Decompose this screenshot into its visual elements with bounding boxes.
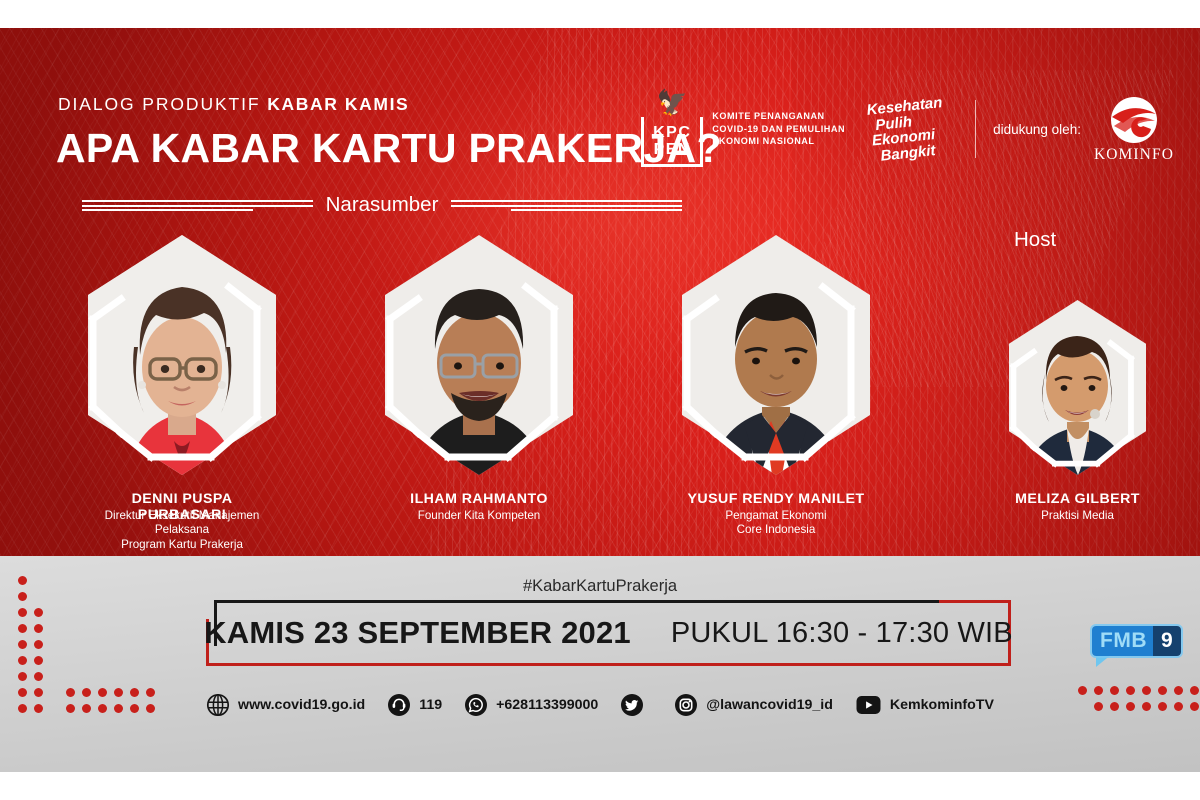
supported-by-label: didukung oleh: (993, 122, 1081, 137)
campaign-tagline: Kesehatan Pulih Ekonomi Bangkit (866, 93, 964, 164)
page-title: APA KABAR KARTU PRAKERJA? (56, 125, 722, 172)
contact-website[interactable]: www.covid19.go.id (206, 693, 365, 717)
kpc-line-2: PEN (654, 141, 691, 158)
speaker-photo-0 (88, 235, 276, 475)
instagram-text: @lawancovid19_id (706, 697, 833, 713)
instagram-icon (674, 693, 698, 717)
logo-divider (975, 100, 976, 158)
decorative-dot (18, 672, 27, 681)
youtube-text: KemkominfoTV (890, 697, 994, 713)
decorative-dot (34, 624, 43, 633)
fmb9-nine-text: 9 (1153, 626, 1181, 656)
kpcpen-mark: 🦅 KPC PEN (641, 89, 703, 169)
kpcpen-subtitle: KOMITE PENANGANAN COVID-19 DAN PEMULIHAN… (712, 110, 845, 147)
decorative-dot (18, 640, 27, 649)
speaker-card-1: ILHAM RAHMANTO Founder Kita Kompeten (385, 235, 573, 475)
portrait-illustration-1 (385, 235, 573, 475)
schedule-content: KAMIS 23 SEPTEMBER 2021 PUKUL 16:30 - 17… (206, 600, 1011, 666)
speaker-hex-frame-1 (385, 235, 573, 475)
kicker-light: DIALOG PRODUKTIF (58, 94, 267, 114)
speaker-role-1: Founder Kita Kompeten (385, 509, 573, 523)
speaker-name-2: YUSUF RENDY MANILET (682, 491, 870, 507)
website-text: www.covid19.go.id (238, 697, 365, 713)
speaker-photo-1 (385, 235, 573, 475)
kpc-line-1: KPC (653, 124, 691, 141)
callcenter-text: 119 (419, 697, 442, 713)
narasumber-label: Narasumber (326, 193, 439, 217)
narasumber-heading: Narasumber (82, 192, 682, 218)
speaker-name-3: MELIZA GILBERT (1009, 491, 1146, 507)
portrait-illustration-2 (682, 235, 870, 475)
event-hashtag: #KabarKartuPrakerja (0, 577, 1200, 596)
speaker-photo-3 (1009, 300, 1146, 475)
fmb9-logo: FMB 9 (1092, 626, 1181, 656)
rule-right (451, 200, 682, 211)
logo-cluster: 🦅 KPC PEN KOMITE PENANGANAN COVID-19 DAN… (641, 86, 1174, 172)
speaker-hex-frame-0 (88, 235, 276, 475)
poster-canvas: DIALOG PRODUKTIF KABAR KAMIS APA KABAR K… (0, 0, 1200, 800)
speaker-role-3: Praktisi Media (1009, 509, 1146, 523)
speaker-hex-frame-2 (682, 235, 870, 475)
speaker-card-0: DENNI PUSPA PURBASARI Direktur Eksekutif… (88, 235, 276, 475)
twitter-icon (620, 693, 644, 717)
youtube-icon (855, 693, 882, 717)
kicker-bold: KABAR KAMIS (267, 94, 409, 114)
decorative-dot (18, 624, 27, 633)
schedule-box: KAMIS 23 SEPTEMBER 2021 PUKUL 16:30 - 17… (206, 600, 1011, 666)
portrait-illustration-0 (88, 235, 276, 475)
speaker-photo-2 (682, 235, 870, 475)
decorative-dot (34, 672, 43, 681)
kpcpen-logo: 🦅 KPC PEN KOMITE PENANGANAN COVID-19 DAN… (641, 89, 845, 169)
call-center-icon (387, 693, 411, 717)
decorative-dot (18, 656, 27, 665)
speaker-role-2: Pengamat Ekonomi Core Indonesia (682, 509, 870, 538)
contact-bar: www.covid19.go.id 119 +628113399000 (0, 688, 1200, 722)
decorative-dot (18, 608, 27, 617)
speaker-card-2: YUSUF RENDY MANILET Pengamat Ekonomi Cor… (682, 235, 870, 475)
garuda-icon: 🦅 (655, 89, 689, 119)
decorative-dot (34, 656, 43, 665)
decorative-dot (34, 640, 43, 649)
speaker-card-3: MELIZA GILBERT Praktisi Media (1009, 300, 1146, 475)
globe-icon (206, 693, 230, 717)
speaker-name-1: ILHAM RAHMANTO (385, 491, 573, 507)
kicker-text: DIALOG PRODUKTIF KABAR KAMIS (58, 94, 409, 115)
kominfo-logo: KOMINFO (1094, 95, 1174, 164)
kpcpen-badge: KPC PEN (641, 117, 703, 167)
event-date: KAMIS 23 SEPTEMBER 2021 (204, 615, 631, 651)
rule-left (82, 200, 313, 211)
fmb9-fmb-text: FMB (1092, 626, 1153, 656)
speaker-role-0: Direktur Eksekutif Manajemen Pelaksana P… (88, 509, 276, 552)
speaker-hex-frame-3 (1009, 300, 1146, 475)
contact-youtube[interactable]: KemkominfoTV (855, 693, 994, 717)
kominfo-wordmark: KOMINFO (1094, 146, 1174, 164)
host-label: Host (1014, 228, 1056, 252)
contact-callcenter[interactable]: 119 (387, 693, 442, 717)
contact-whatsapp[interactable]: +628113399000 (464, 693, 598, 717)
decorative-dot (34, 608, 43, 617)
portrait-illustration-3 (1009, 300, 1146, 475)
contact-twitter[interactable] (620, 693, 652, 717)
contact-instagram[interactable]: @lawancovid19_id (674, 693, 833, 717)
whatsapp-text: +628113399000 (496, 697, 598, 713)
whatsapp-icon (464, 693, 488, 717)
kominfo-globe-icon (1109, 95, 1159, 145)
event-time: PUKUL 16:30 - 17:30 WIB (671, 617, 1013, 650)
